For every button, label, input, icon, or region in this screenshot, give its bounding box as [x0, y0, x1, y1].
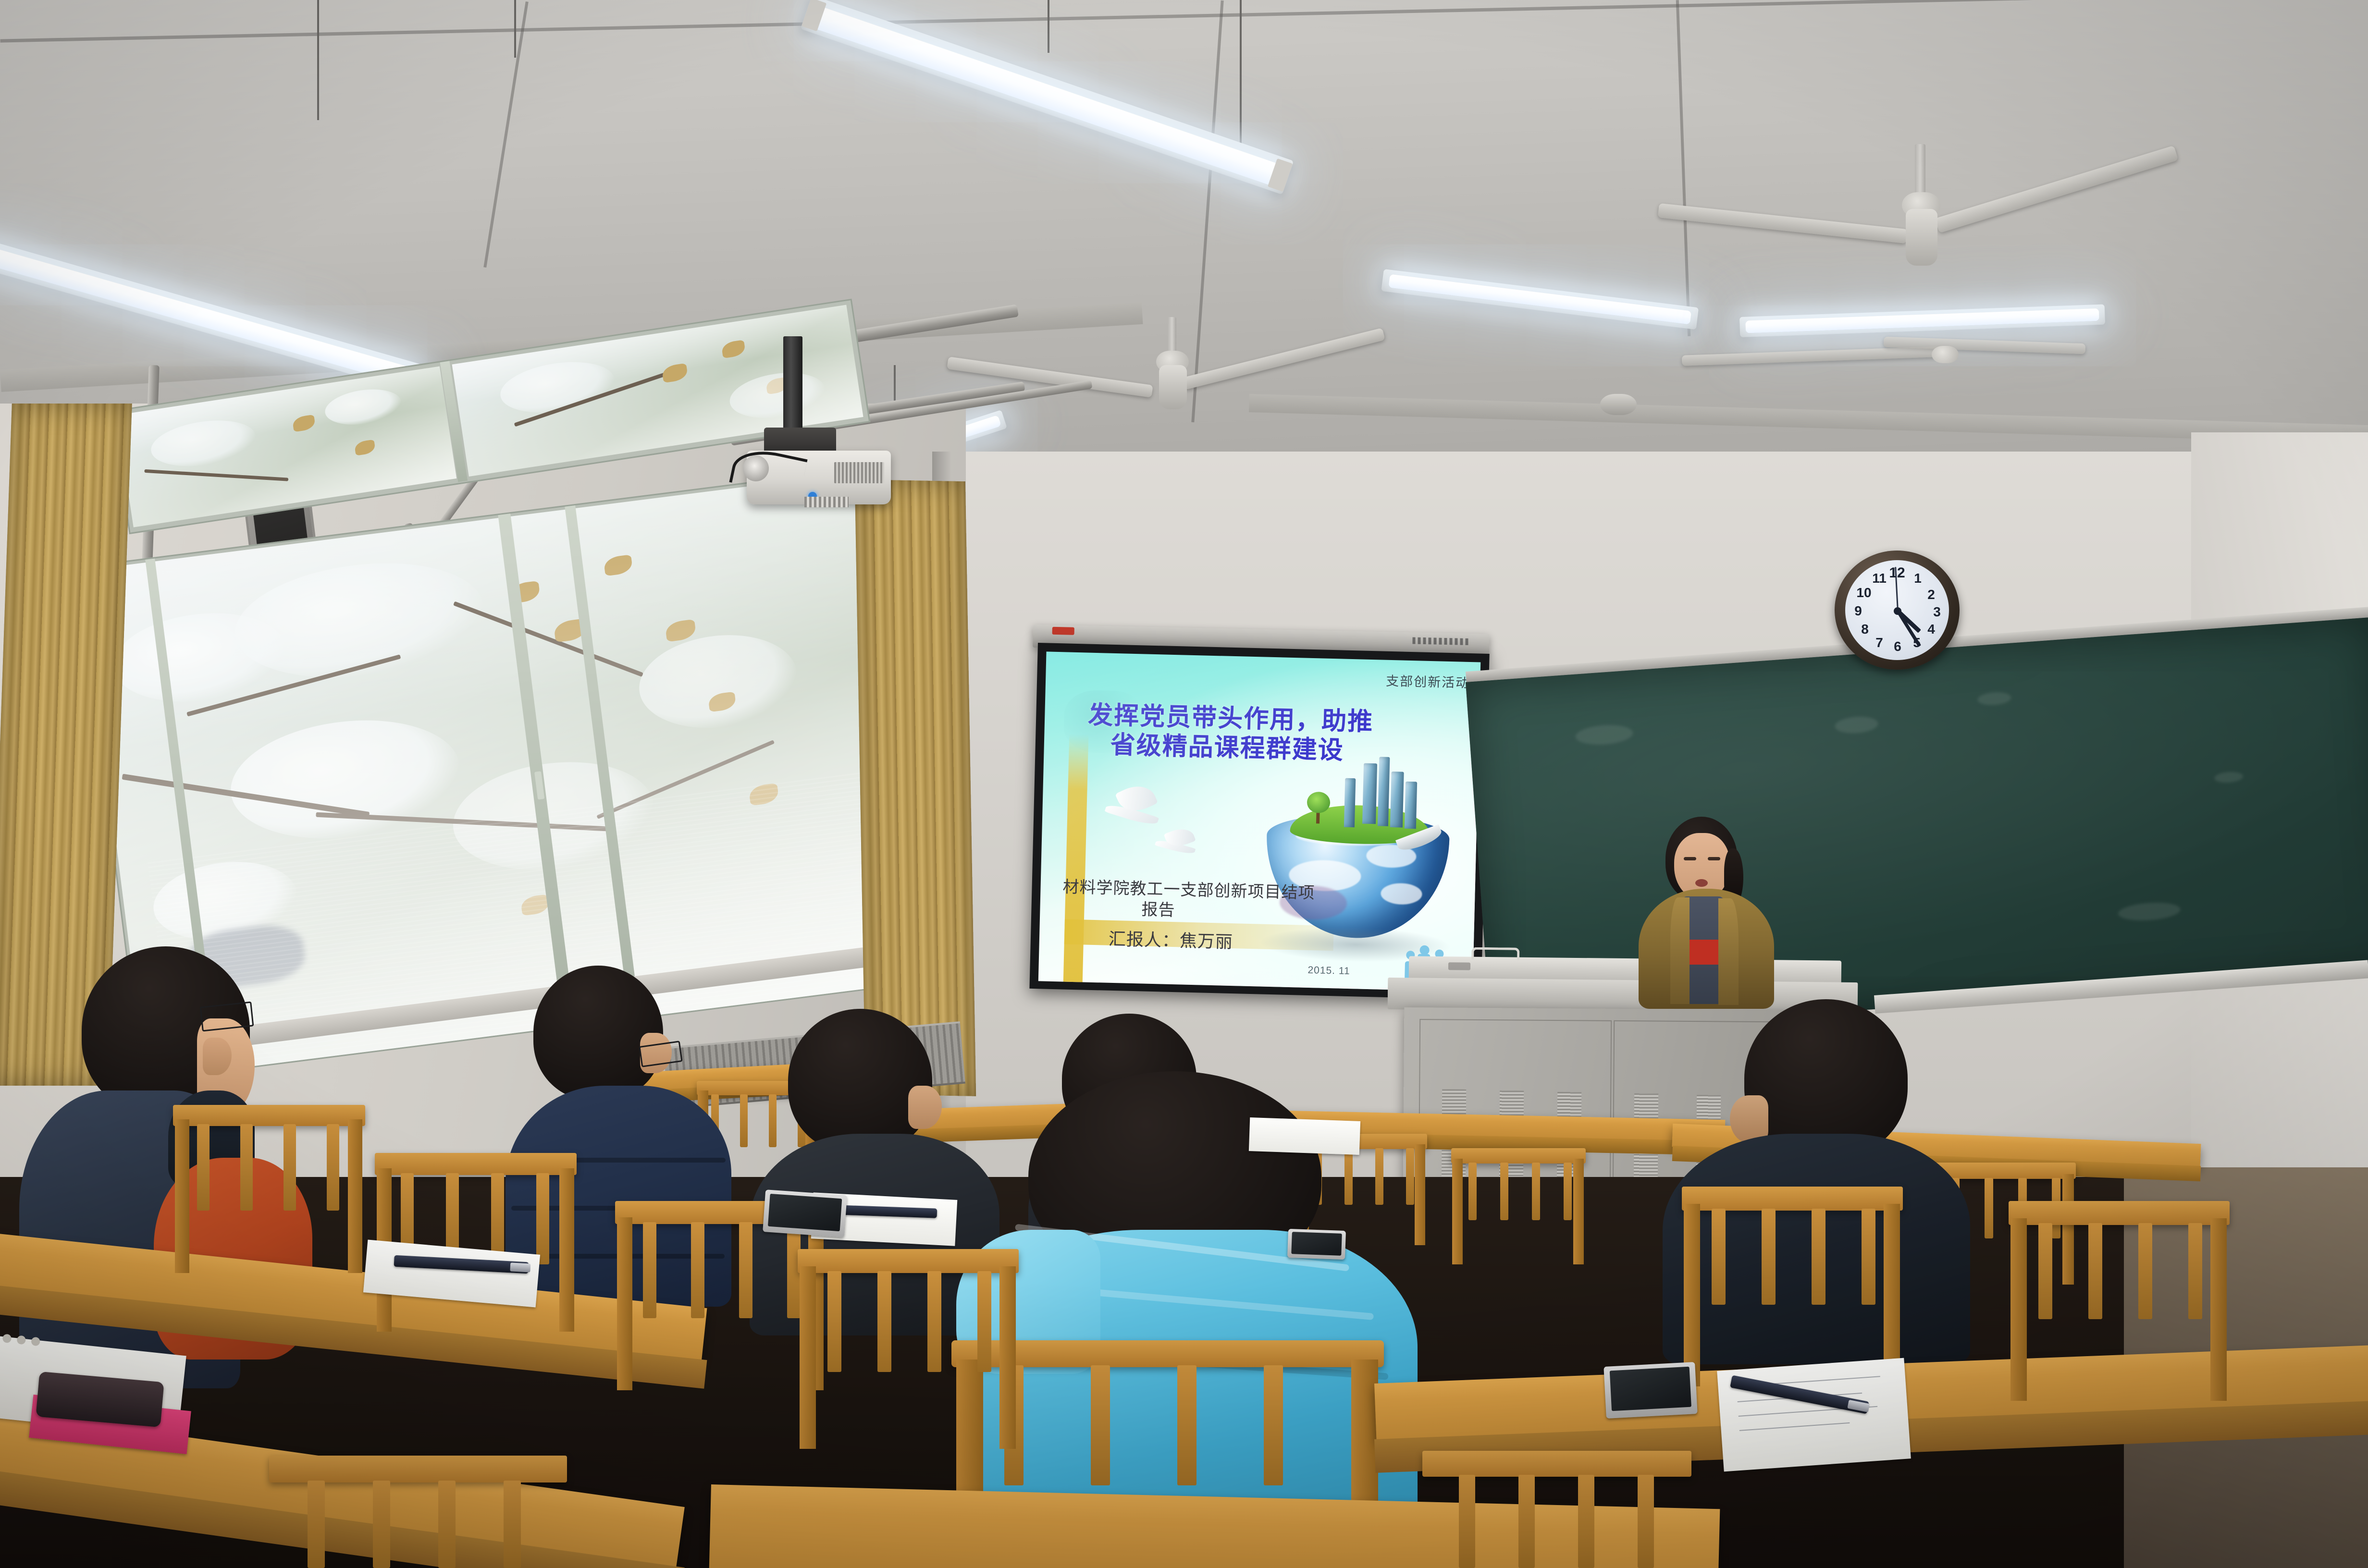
hanging-wire	[514, 0, 516, 58]
slide-date: 2015. 11	[1307, 965, 1350, 977]
clock-numeral: 6	[1890, 639, 1905, 654]
smartphone[interactable]	[763, 1189, 847, 1237]
paper-sheet[interactable]	[1717, 1358, 1911, 1472]
projector-assembly	[740, 336, 942, 548]
clock-numeral: 3	[1930, 604, 1944, 620]
ceiling-fan	[1048, 317, 1394, 442]
slide-subtitle: 材料学院教工一支部创新项目结项 报告	[1062, 877, 1332, 924]
slide: 支部创新活动 发挥党员带头作用，助推 省级精品课程群建设	[1038, 651, 1480, 992]
hanging-wire	[317, 0, 319, 120]
chair[interactable]	[1451, 1148, 1586, 1268]
clock-numeral: 12	[1887, 565, 1907, 581]
clock-numeral: 8	[1858, 622, 1872, 637]
clock-numeral: 10	[1855, 585, 1873, 600]
wall-clock: 12 1 2 3 4 5 6 7 8 9 10 11	[1835, 551, 1960, 670]
seagull-icon	[1153, 827, 1198, 862]
slide-accent-stripe	[1063, 734, 1089, 984]
clock-numeral: 11	[1870, 571, 1888, 586]
podium-handle[interactable]	[1471, 947, 1519, 960]
ceiling-fan	[1682, 331, 2085, 389]
chair[interactable]	[1682, 1187, 1903, 1388]
clock-numeral: 1	[1911, 571, 1925, 586]
slide-corner-label: 支部创新活动	[1386, 671, 1470, 691]
classroom-photo: 支部创新活动 发挥党员带头作用，助推 省级精品课程群建设	[0, 0, 2368, 1568]
chair[interactable]	[1422, 1451, 1691, 1568]
presenter-lapel	[1718, 898, 1739, 1005]
clock-numeral: 2	[1924, 587, 1938, 602]
clock-numeral: 4	[1924, 622, 1938, 637]
clock-numeral: 9	[1851, 603, 1865, 619]
paper-sheet[interactable]	[1249, 1117, 1360, 1155]
clock-center-pin	[1894, 607, 1901, 615]
presenter-lapel	[1670, 897, 1690, 1004]
chair[interactable]	[173, 1105, 365, 1278]
chair[interactable]	[2009, 1201, 2230, 1403]
presenter	[1624, 817, 1788, 999]
screen-brand-label	[1412, 637, 1470, 646]
curtain-right	[855, 479, 976, 1096]
chair[interactable]	[798, 1249, 1019, 1451]
hanging-wire	[1048, 0, 1049, 53]
chair[interactable]	[269, 1456, 567, 1568]
ceiling-fan	[1778, 144, 2210, 303]
smoke-detector-icon	[1600, 394, 1637, 415]
slide-presenter: 汇报人：焦万丽	[1108, 925, 1233, 953]
projection-screen: 支部创新活动 发挥党员带头作用，助推 省级精品课程群建设	[1029, 643, 1489, 1000]
clock-numeral: 7	[1872, 635, 1887, 650]
hanging-wire	[1240, 0, 1242, 144]
smartphone[interactable]	[1603, 1362, 1697, 1419]
smartphone[interactable]	[1287, 1229, 1346, 1260]
